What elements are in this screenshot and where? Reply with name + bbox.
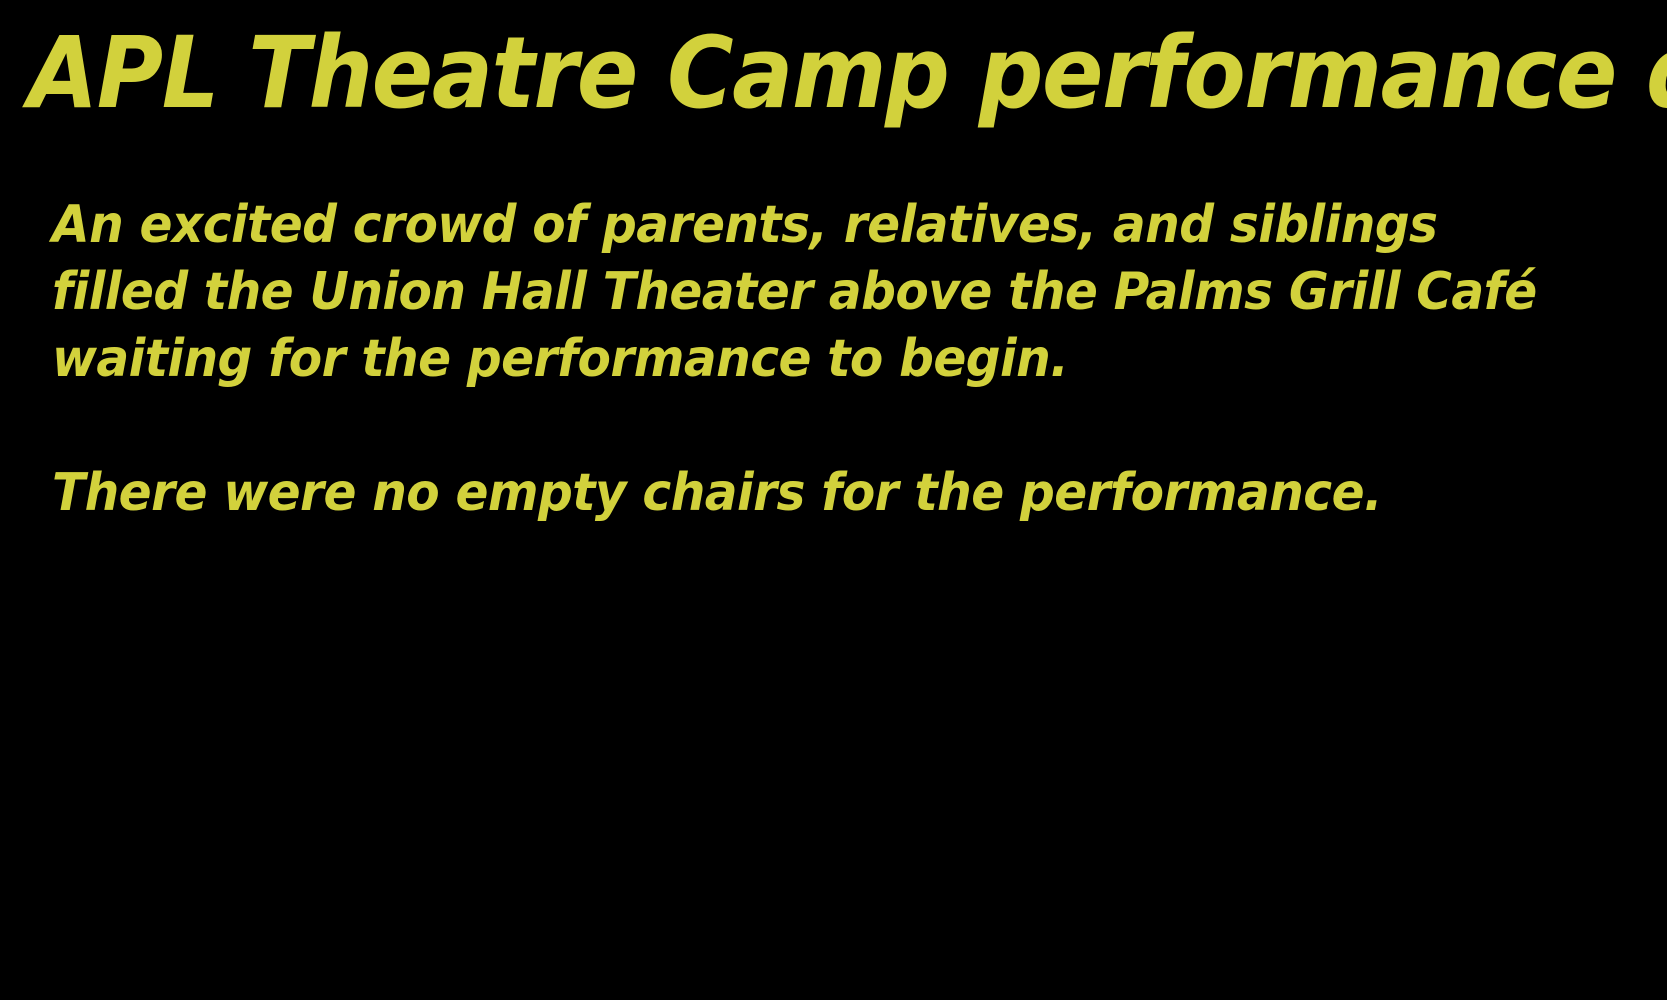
slide-canvas: APL Theatre Camp performance day An exci… — [0, 0, 1667, 1000]
body-paragraph-1: An excited crowd of parents, relatives, … — [52, 192, 1511, 393]
body-line: There were no empty chairs for the perfo… — [52, 460, 1511, 527]
body-line: An excited crowd of parents, relatives, … — [52, 192, 1511, 259]
slide-body: An excited crowd of parents, relatives, … — [52, 192, 1612, 527]
body-paragraph-2: There were no empty chairs for the perfo… — [52, 460, 1511, 527]
body-line: waiting for the performance to begin. — [52, 326, 1511, 393]
page-title: APL Theatre Camp performance day — [28, 24, 1519, 123]
body-line: filled the Union Hall Theater above the … — [52, 259, 1511, 326]
paragraph-spacer — [52, 393, 1612, 460]
